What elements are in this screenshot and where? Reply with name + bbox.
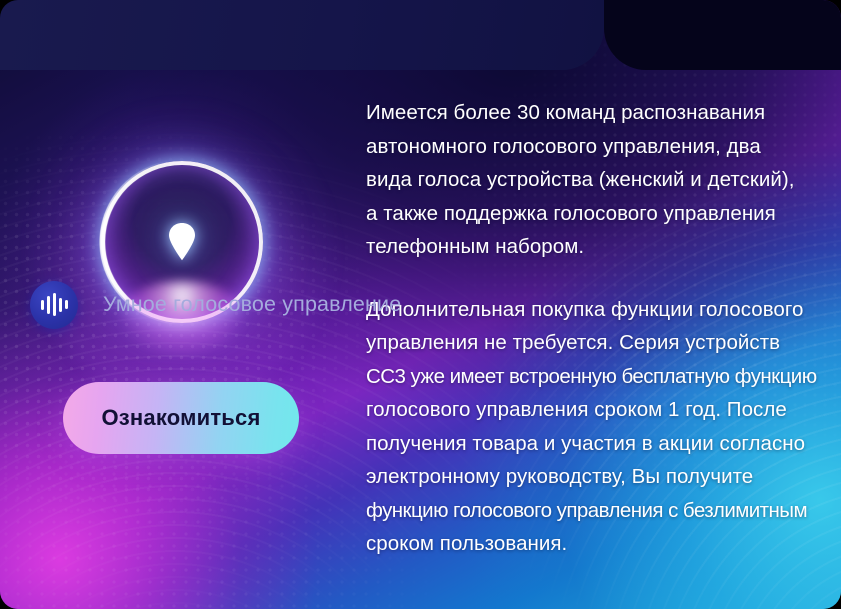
smart-voice-control-card: Умное голосовое управление Ознакомиться … (0, 0, 841, 609)
voice-waveform-icon (30, 281, 78, 329)
page-title: Умное голосовое управление (103, 292, 401, 317)
header-content: Умное голосовое управление (0, 0, 841, 609)
